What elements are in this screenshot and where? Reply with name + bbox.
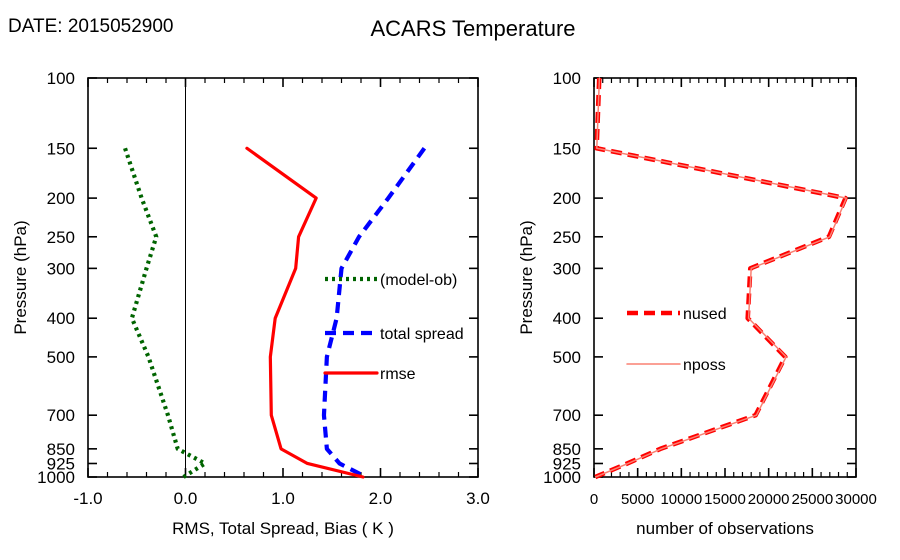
x-tick-label: 5000 xyxy=(621,491,654,508)
y-tick-label: 500 xyxy=(47,348,75,367)
y-tick-label: 150 xyxy=(47,139,75,158)
x-tick-label: 0 xyxy=(590,491,598,508)
legend-label-rmse: rmse xyxy=(380,366,416,383)
y-tick-label: 200 xyxy=(47,189,75,208)
series-totalspread-curve xyxy=(324,148,424,477)
y-axis-title: Pressure (hPa) xyxy=(517,220,536,334)
y-tick-label: 200 xyxy=(553,189,581,208)
right-panel-counts-plot: 0500010000150002000025000300001001502002… xyxy=(517,69,877,538)
acars-temperature-figure: DATE: 2015052900 ACARS Temperature -1.00… xyxy=(0,0,900,560)
y-tick-label: 400 xyxy=(553,309,581,328)
x-tick-label: -1.0 xyxy=(73,489,102,508)
x-tick-label: 30000 xyxy=(835,491,877,508)
series-nused-curve xyxy=(595,78,845,477)
y-tick-label: 700 xyxy=(47,406,75,425)
legend-label-nused: nused xyxy=(683,306,727,323)
x-tick-label: 1.0 xyxy=(271,489,295,508)
x-tick-label: 2.0 xyxy=(369,489,393,508)
series-nposs-curve xyxy=(596,78,847,477)
x-axis-title: RMS, Total Spread, Bias ( K ) xyxy=(172,519,394,538)
y-tick-label: 250 xyxy=(47,228,75,247)
legend-label-totalspread: total spread xyxy=(380,326,464,343)
y-tick-label: 1000 xyxy=(543,468,581,487)
x-tick-label: 10000 xyxy=(660,491,702,508)
y-tick-label: 300 xyxy=(553,259,581,278)
y-tick-label: 400 xyxy=(47,309,75,328)
legend-label-nposs: nposs xyxy=(683,357,726,374)
y-tick-label: 100 xyxy=(47,69,75,88)
right-panel-frame xyxy=(594,78,856,477)
date-label: DATE: 2015052900 xyxy=(8,16,174,37)
y-tick-label: 500 xyxy=(553,348,581,367)
y-tick-label: 100 xyxy=(553,69,581,88)
x-tick-label: 0.0 xyxy=(174,489,198,508)
y-tick-label: 700 xyxy=(553,406,581,425)
y-tick-label: 250 xyxy=(553,228,581,247)
x-axis-title: number of observations xyxy=(636,519,814,538)
y-tick-label: 300 xyxy=(47,259,75,278)
series-modelob-curve xyxy=(125,148,205,477)
x-tick-label: 20000 xyxy=(748,491,790,508)
chart-page: DATE: 2015052900 ACARS Temperature -1.00… xyxy=(0,0,900,560)
x-tick-label: 15000 xyxy=(704,491,746,508)
y-tick-label: 1000 xyxy=(37,468,75,487)
y-axis-title: Pressure (hPa) xyxy=(11,220,30,334)
x-tick-label: 25000 xyxy=(791,491,833,508)
legend-label-modelob: (model-ob) xyxy=(380,272,457,289)
x-tick-label: 3.0 xyxy=(466,489,490,508)
page-title: ACARS Temperature xyxy=(370,16,575,41)
left-panel-profile-plot: -1.00.01.02.03.0100150200250300400500700… xyxy=(11,69,490,538)
series-rmse-curve xyxy=(247,148,363,477)
y-tick-label: 150 xyxy=(553,139,581,158)
